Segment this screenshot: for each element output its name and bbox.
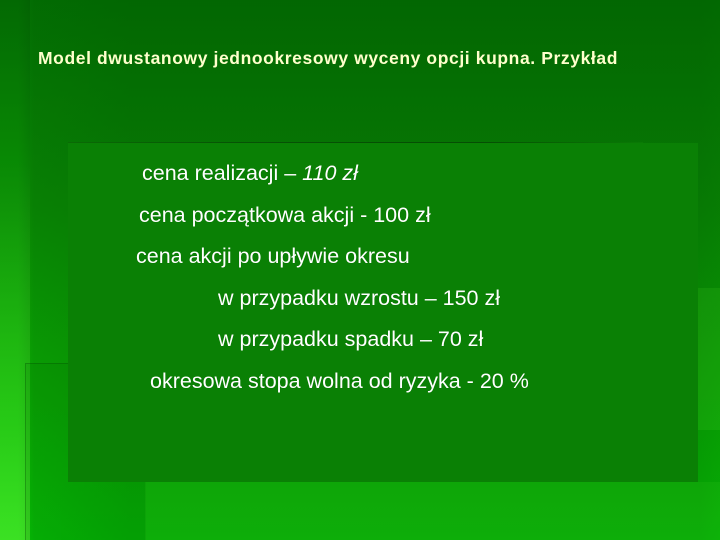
presentation-slide: Model dwustanowy jednookresowy wyceny op… (0, 0, 720, 540)
line-strike-price-value: 110 zł (302, 161, 358, 185)
slide-title: Model dwustanowy jednookresowy wyceny op… (38, 45, 698, 72)
line-up-state-text: w przypadku wzrostu – 150 zł (218, 286, 500, 310)
line-strike-price-text: cena realizacji – (142, 161, 302, 185)
line-price-after-period-text: cena akcji po upływie okresu (136, 244, 410, 268)
line-risk-free-rate: okresowa stopa wolna od ryzyka - 20 % (68, 361, 698, 403)
line-down-state-text: w przypadku spadku – 70 zł (218, 327, 483, 351)
line-risk-free-rate-text: okresowa stopa wolna od ryzyka - 20 % (150, 369, 529, 393)
slide-title-line-2: kupna. Przykład (476, 48, 618, 68)
slide-bottom-strip (145, 482, 720, 540)
content-line-list: cena realizacji – 110 zł cena początkowa… (68, 153, 698, 402)
line-strike-price: cena realizacji – 110 zł (68, 153, 698, 195)
line-initial-stock-price-text: cena początkowa akcji - 100 zł (139, 203, 431, 227)
line-price-after-period: cena akcji po upływie okresu (68, 236, 698, 278)
slide-title-line-1: Model dwustanowy jednookresowy wyceny op… (38, 48, 470, 68)
content-card: cena realizacji – 110 zł cena początkowa… (68, 143, 698, 482)
line-initial-stock-price: cena początkowa akcji - 100 zł (68, 195, 698, 237)
line-up-state: w przypadku wzrostu – 150 zł (68, 278, 698, 320)
line-down-state: w przypadku spadku – 70 zł (68, 319, 698, 361)
